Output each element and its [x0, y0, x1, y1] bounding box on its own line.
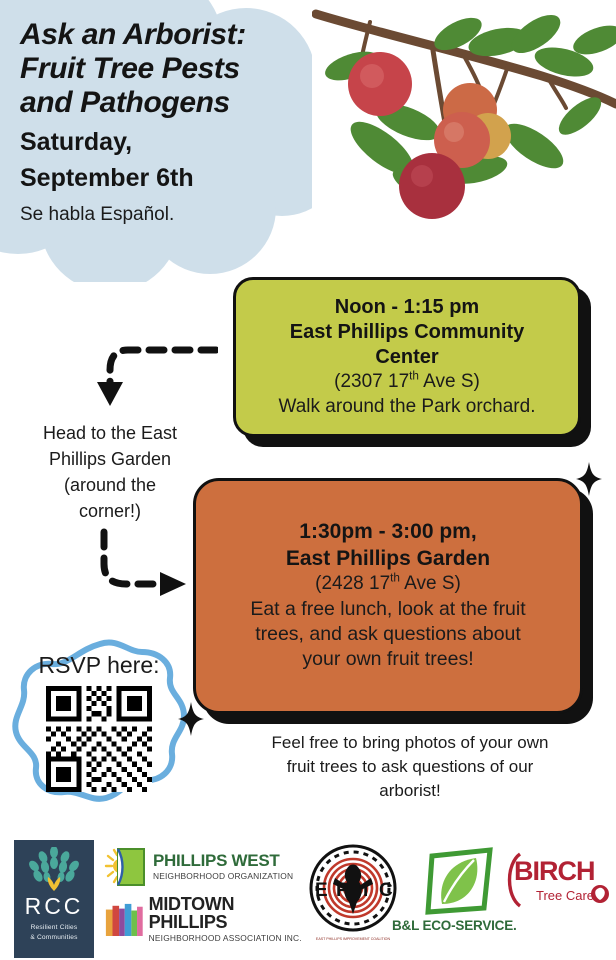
sponsor-logo-phillips-west: PHILLIPS WEST NEIGHBORHOOD ORGANIZATION [104, 844, 296, 890]
tree-icon [26, 847, 82, 891]
svg-text:I: I [363, 880, 368, 901]
session-two-time: 1:30pm - 3:00 pm, [299, 519, 476, 545]
title-line-1: Ask an Arborist: [20, 18, 320, 52]
sponsor-rcc-name: RCC [25, 893, 84, 920]
svg-text:P: P [336, 880, 349, 901]
directions-line-3: (around the [12, 472, 208, 498]
sponsor-logo-birch-tree-care: BIRCH Tree Care [500, 850, 614, 922]
sponsor-birch-name: BIRCH [514, 858, 595, 885]
footnote-line-1: Feel free to bring photos of your own [218, 731, 602, 755]
sparkle-icon [178, 702, 204, 741]
session-two-card: 1:30pm - 3:00 pm, East Phillips Garden (… [193, 478, 583, 714]
books-icon [104, 899, 144, 939]
title-line-2: Fruit Tree Pests [20, 52, 320, 86]
sponsor-midtown-phillips-sub: NEIGHBORHOOD ASSOCIATION INC. [149, 933, 308, 943]
directions-line-4: corner!) [12, 498, 208, 524]
session-one-note: Walk around the Park orchard. [279, 395, 536, 420]
svg-text:C: C [379, 880, 393, 901]
title-line-3: and Pathogens [20, 86, 320, 120]
directions-line-2: Phillips Garden [12, 446, 208, 472]
sun-page-icon [104, 846, 148, 888]
session-two-venue: East Phillips Garden [286, 546, 490, 572]
sponsor-rcc-sub: Resilient Cities & Communities [30, 923, 77, 942]
sponsor-logo-bar: RCC Resilient Cities & Communities PHILL… [0, 836, 616, 960]
footnote-line-2: fruit trees to ask questions of our [218, 755, 602, 779]
sponsor-logo-midtown-phillips: MIDTOWN PHILLIPS NEIGHBORHOOD ASSOCIATIO… [104, 896, 308, 942]
session-one-card: Noon - 1:15 pm East Phillips Community C… [233, 277, 581, 437]
rsvp-block[interactable]: RSVP here: [6, 636, 192, 818]
dashed-arrow-right-icon [88, 528, 198, 598]
sponsor-birch-sub: Tree Care [536, 888, 594, 903]
flyer-canvas: Ask an Arborist: Fruit Tree Pests and Pa… [0, 0, 616, 960]
sponsor-logo-epic: E P I C EAST PHILLIPS IMPROVEMENT COALIT… [305, 842, 401, 946]
sponsor-midtown-phillips-name: MIDTOWN PHILLIPS [149, 895, 308, 931]
spanish-note: Se habla Español. [20, 204, 320, 227]
svg-text:E: E [315, 880, 328, 901]
directions-line-1: Head to the East [12, 420, 208, 446]
apple-branch-photo [312, 0, 616, 232]
session-two-note-line-3: your own fruit trees! [288, 647, 487, 672]
sponsor-phillips-west-name: PHILLIPS WEST [153, 852, 293, 869]
date-line-1: Saturday, [20, 127, 320, 158]
dashed-arrow-down-icon [88, 344, 218, 412]
session-two-note-line-1: Eat a free lunch, look at the fruit [236, 597, 539, 622]
session-two-address: (2428 17th Ave S) [315, 572, 461, 597]
sponsor-epic-sub: EAST PHILLIPS IMPROVEMENT COALITION [316, 937, 391, 941]
session-one-venue-line-1: East Phillips Community [290, 320, 524, 345]
sparkle-icon [576, 462, 602, 501]
session-one-time: Noon - 1:15 pm [335, 295, 479, 320]
sponsor-bl-eco-service-name: B&L ECO-SERVICE. [392, 918, 517, 933]
session-one-address: (2307 17th Ave S) [334, 370, 480, 395]
footnote: Feel free to bring photos of your own fr… [218, 731, 602, 803]
directions-text: Head to the East Phillips Garden (around… [12, 420, 208, 524]
footnote-line-3: arborist! [218, 779, 602, 803]
page-title: Ask an Arborist: Fruit Tree Pests and Pa… [20, 18, 320, 226]
session-one-venue-line-2: Center [375, 345, 438, 370]
qr-code[interactable] [46, 686, 152, 792]
rsvp-label: RSVP here: [6, 652, 192, 679]
session-two-note-line-2: trees, and ask questions about [241, 622, 535, 647]
sponsor-phillips-west-sub: NEIGHBORHOOD ORGANIZATION [153, 871, 293, 881]
sponsor-logo-rcc: RCC Resilient Cities & Communities [14, 840, 94, 958]
date-line-2: September 6th [20, 163, 320, 194]
leaf-square-icon [424, 846, 498, 916]
